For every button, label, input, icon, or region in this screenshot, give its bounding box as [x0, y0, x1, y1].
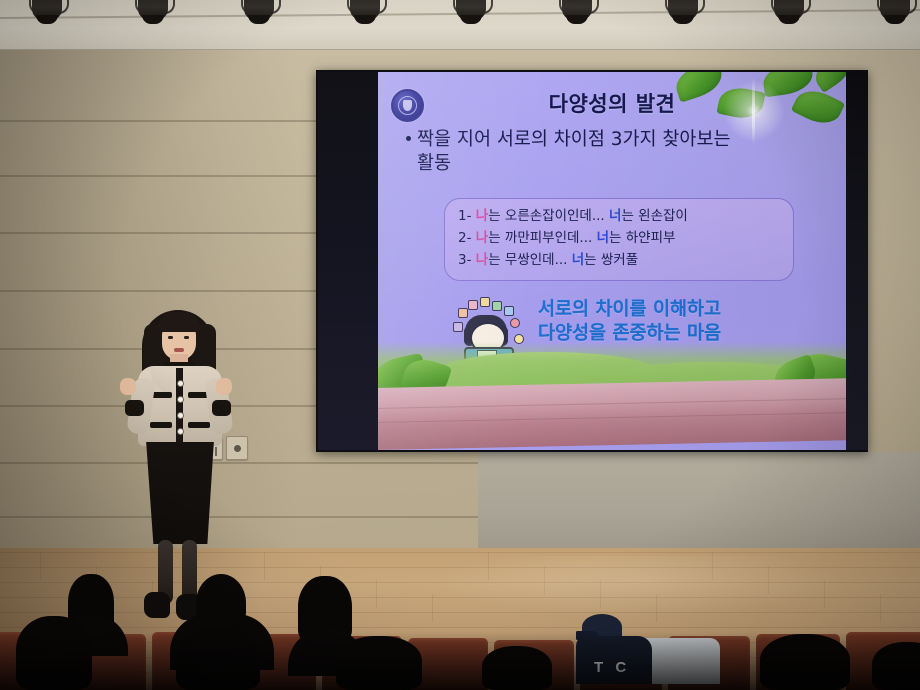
spotlight-lens [778, 15, 800, 24]
slide-floor-line [378, 412, 846, 423]
presenter-boot-right [176, 594, 202, 620]
doodle-idea-icon [458, 308, 468, 318]
presenter-jacket-button [177, 428, 184, 435]
presenter-mouth [174, 348, 184, 352]
presenter-boot-left [144, 592, 170, 618]
slide-floor-line [378, 398, 846, 409]
slogan-line-1: 서로의 차이를 이해하고 [538, 298, 721, 322]
projected-slide: 다양성의 발견 짝을 지어 서로의 차이점 3가지 찾아보는 활동 1- 나는 … [378, 72, 846, 450]
stage-spotlight [136, 0, 170, 26]
example-number: 2- [458, 230, 476, 246]
presenter-eye-left [168, 336, 173, 339]
screen-letterbox-right [846, 72, 868, 450]
lower-gray-wall-panel [478, 452, 920, 560]
screen-letterbox-left [318, 72, 378, 450]
foreground-shadow [0, 632, 920, 690]
presenter-hand-right [216, 378, 232, 395]
examples-list: 1- 나는 오른손잡이인데... 너는 왼손잡이2- 나는 까만피부인데... … [458, 206, 781, 272]
spotlight-lens [672, 15, 694, 24]
example-line: 1- 나는 오른손잡이인데... 너는 왼손잡이 [458, 206, 781, 228]
example-me-text: 는 오른손잡이인데... [488, 208, 609, 224]
slide-bullet-line2: 활동 [406, 152, 830, 176]
auditorium-photo: 다양성의 발견 짝을 지어 서로의 차이점 3가지 찾아보는 활동 1- 나는 … [0, 0, 920, 690]
floor-plank-seam [320, 566, 321, 594]
doodle-idea-icon [453, 322, 463, 332]
spotlight-lens [142, 15, 164, 24]
doodle-idea-icon [510, 318, 520, 328]
floor-plank-seam [376, 580, 377, 608]
presenter-jacket-pocket [188, 422, 210, 428]
stage-spotlight [30, 0, 64, 26]
doodle-idea-icon [480, 297, 490, 307]
slide-bullet-line1: 짝을 지어 서로의 차이점 3가지 찾아보는 [417, 129, 731, 150]
token-me: 나 [476, 230, 488, 246]
example-line: 3- 나는 무쌍인데... 너는 쌍커풀 [458, 250, 781, 272]
presenter-hand-left [120, 378, 136, 395]
presenter-jacket-button [177, 380, 184, 387]
presenter-cuff-left [125, 400, 144, 416]
stage-spotlight [454, 0, 488, 26]
token-you: 너 [597, 230, 609, 246]
floor-plank-seam [880, 594, 881, 622]
stage-spotlight [560, 0, 594, 26]
example-you-text: 는 하얀피부 [609, 230, 675, 246]
stage-spotlight [242, 0, 276, 26]
presenter-skirt [144, 442, 216, 544]
stage-spotlight [878, 0, 912, 26]
presenter-jacket-button [177, 412, 184, 419]
token-me: 나 [476, 208, 488, 224]
examples-box: 1- 나는 오른손잡이인데... 너는 왼손잡이2- 나는 까만피부인데... … [444, 198, 794, 281]
doodle-idea-icon [468, 300, 478, 310]
token-me: 나 [476, 252, 488, 268]
spotlight-lens [566, 15, 588, 24]
stage-spotlight [772, 0, 806, 26]
example-line: 2- 나는 까만피부인데... 너는 하얀피부 [458, 228, 781, 250]
spotlight-lens [36, 15, 58, 24]
floor-reflection [430, 556, 850, 616]
example-me-text: 는 무쌍인데... [488, 252, 572, 268]
slide-title: 다양성의 발견 [378, 88, 846, 118]
slide-floor-band [378, 378, 846, 450]
example-number: 3- [458, 252, 476, 268]
slide-slogan: 서로의 차이를 이해하고 다양성을 존중하는 마음 [538, 298, 721, 345]
example-you-text: 는 쌍커풀 [584, 252, 638, 268]
example-me-text: 는 까만피부인데... [488, 230, 596, 246]
doodle-idea-icon [504, 306, 514, 316]
bullet-point-icon [406, 136, 411, 141]
slide-bullet: 짝을 지어 서로의 차이점 3가지 찾아보는 활동 [406, 128, 830, 177]
spotlight-lens [248, 15, 270, 24]
presenter-fringe [158, 312, 200, 332]
example-you-text: 는 왼손잡이 [621, 208, 687, 224]
stage-spotlight [666, 0, 700, 26]
spotlight-lens [460, 15, 482, 24]
floor-plank-seam [264, 552, 265, 580]
presenter [100, 300, 260, 620]
presenter-jacket-pocket [150, 422, 172, 428]
doodle-idea-icon [492, 301, 502, 311]
presenter-cuff-right [212, 400, 231, 416]
stage-spotlight [348, 0, 382, 26]
token-you: 너 [609, 208, 621, 224]
spotlight-lens [884, 15, 906, 24]
presenter-jacket-button [177, 396, 184, 403]
presenter-eye-right [184, 336, 189, 339]
example-number: 1- [458, 208, 476, 224]
token-you: 너 [572, 252, 584, 268]
spotlight-lens [354, 15, 376, 24]
